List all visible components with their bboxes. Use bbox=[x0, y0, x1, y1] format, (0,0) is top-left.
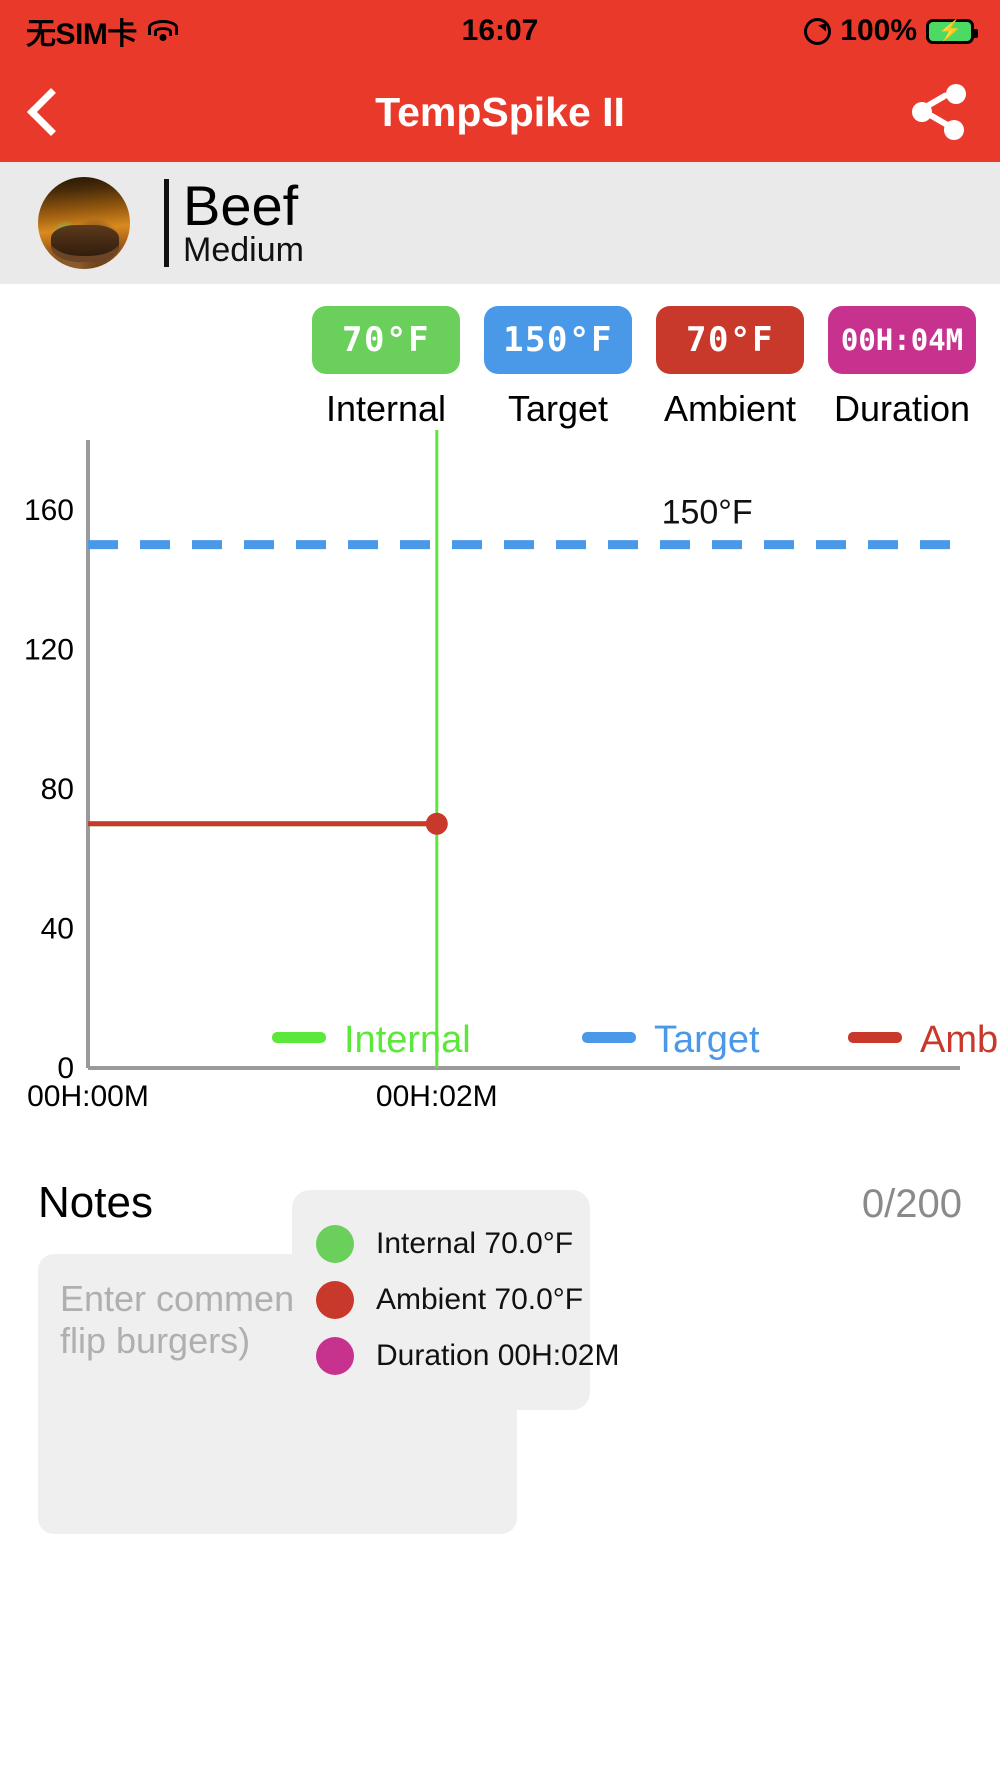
legend-swatch-ambient bbox=[848, 1032, 902, 1043]
duration-dot-icon bbox=[316, 1337, 354, 1375]
target-temp-annotation: 150°F bbox=[662, 494, 753, 532]
carrier-label: 无SIM卡 bbox=[26, 9, 137, 53]
legend-swatch-internal bbox=[272, 1032, 326, 1043]
readout-target[interactable]: 150°F Target bbox=[484, 306, 632, 430]
readout-duration[interactable]: 00H:04M Duration bbox=[828, 306, 976, 430]
tooltip-internal-text: Internal 70.0°F bbox=[376, 1227, 573, 1261]
rotation-lock-icon bbox=[804, 18, 831, 45]
readout-internal-value: 70°F bbox=[312, 306, 460, 374]
y-tick-label: 40 bbox=[41, 912, 74, 945]
legend-label-internal[interactable]: Internal bbox=[344, 1019, 471, 1061]
readout-duration-label: Duration bbox=[834, 388, 970, 430]
back-chevron-icon[interactable] bbox=[27, 88, 75, 136]
readout-target-label: Target bbox=[508, 388, 608, 430]
wifi-icon bbox=[147, 19, 179, 43]
status-bar: 无SIM卡 16:07 100% ⚡ bbox=[0, 0, 1000, 62]
tooltip-row: Ambient 70.0°F bbox=[292, 1272, 590, 1328]
y-tick-label: 160 bbox=[24, 494, 74, 527]
tooltip-row: Internal 70.0°F bbox=[292, 1216, 590, 1272]
status-bar-left: 无SIM卡 bbox=[26, 9, 179, 53]
ambient-dot-icon bbox=[316, 1281, 354, 1319]
meat-name: Beef bbox=[183, 177, 304, 234]
divider bbox=[164, 179, 169, 267]
steak-photo-avatar bbox=[38, 177, 130, 269]
readout-ambient-label: Ambient bbox=[664, 388, 796, 430]
status-bar-right: 100% ⚡ bbox=[804, 14, 974, 48]
page-title: TempSpike II bbox=[0, 89, 1000, 136]
chart-data-point[interactable] bbox=[426, 813, 448, 835]
readout-badges: 70°F Internal 150°F Target 70°F Ambient … bbox=[0, 284, 1000, 430]
readout-internal-label: Internal bbox=[326, 388, 446, 430]
nav-bar: TempSpike II bbox=[0, 62, 1000, 162]
notes-character-counter: 0/200 bbox=[862, 1182, 962, 1227]
notes-title: Notes bbox=[38, 1178, 153, 1228]
share-icon[interactable] bbox=[912, 84, 966, 140]
meat-text-block: Beef Medium bbox=[183, 177, 304, 269]
readout-duration-value: 00H:04M bbox=[828, 306, 976, 374]
legend-label-target[interactable]: Target bbox=[654, 1019, 760, 1061]
tooltip-row: Duration 00H:02M bbox=[292, 1328, 590, 1384]
bolt-icon: ⚡ bbox=[938, 21, 963, 41]
chart-canvas: 04080120160 150°F 00H:00M00H:02M Interna… bbox=[0, 430, 1000, 1150]
legend-swatch-target bbox=[582, 1032, 636, 1043]
meat-header: Beef Medium bbox=[0, 162, 1000, 284]
readout-ambient-value: 70°F bbox=[656, 306, 804, 374]
tooltip-ambient-text: Ambient 70.0°F bbox=[376, 1283, 583, 1317]
readout-target-value: 150°F bbox=[484, 306, 632, 374]
battery-percent-label: 100% bbox=[840, 14, 917, 48]
status-bar-clock: 16:07 bbox=[462, 14, 539, 48]
y-tick-label: 120 bbox=[24, 633, 74, 666]
x-tick-label: 00H:00M bbox=[27, 1080, 149, 1113]
chart-tooltip: Internal 70.0°F Ambient 70.0°F Duration … bbox=[292, 1190, 590, 1410]
readout-internal[interactable]: 70°F Internal bbox=[312, 306, 460, 430]
tooltip-duration-text: Duration 00H:02M bbox=[376, 1339, 619, 1373]
readout-ambient[interactable]: 70°F Ambient bbox=[656, 306, 804, 430]
legend-label-ambient[interactable]: Ambient bbox=[920, 1019, 1000, 1061]
internal-dot-icon bbox=[316, 1225, 354, 1263]
battery-charging-icon: ⚡ bbox=[926, 19, 974, 44]
y-tick-label: 80 bbox=[41, 773, 74, 806]
x-tick-label: 00H:02M bbox=[376, 1080, 498, 1113]
meat-doneness: Medium bbox=[183, 232, 304, 269]
temperature-chart[interactable]: 04080120160 150°F 00H:00M00H:02M Interna… bbox=[0, 430, 1000, 1150]
